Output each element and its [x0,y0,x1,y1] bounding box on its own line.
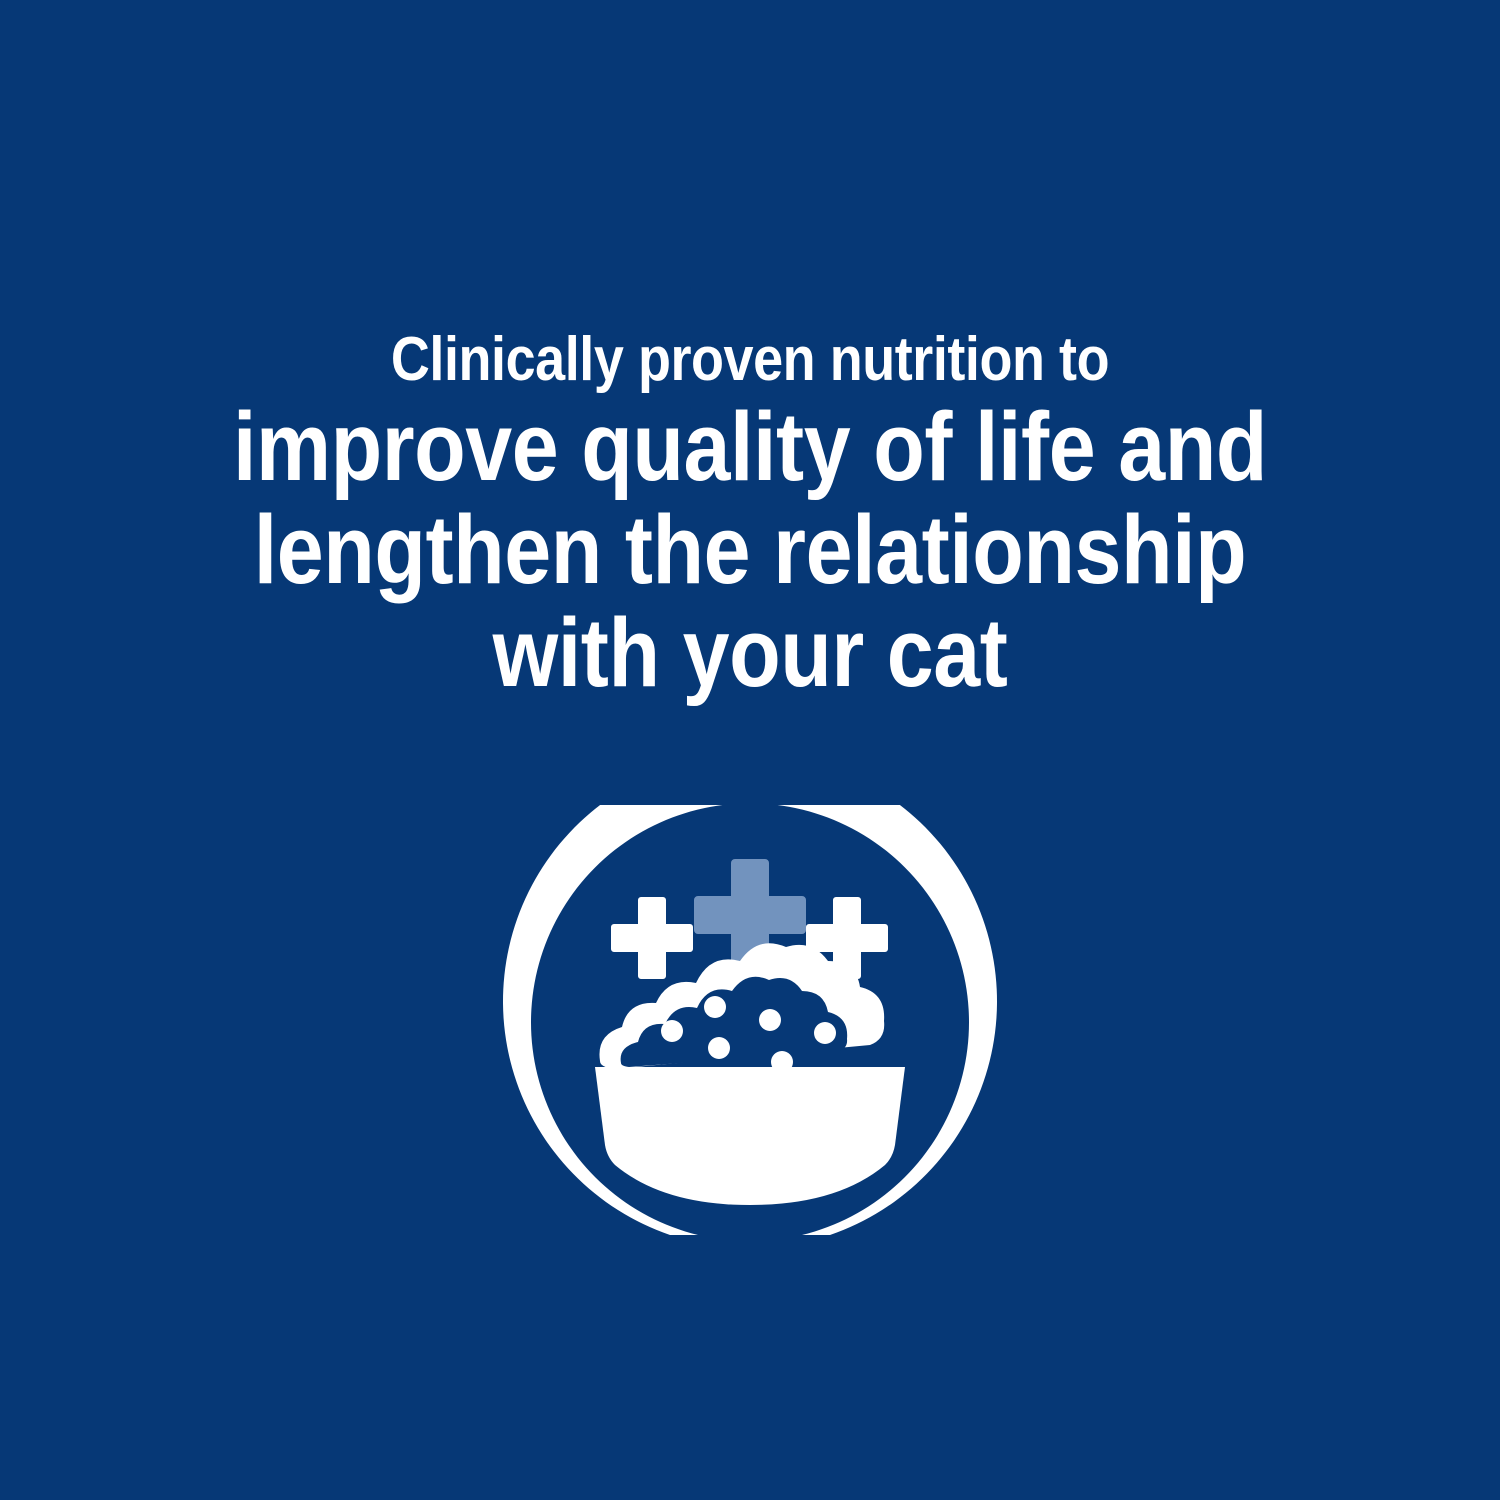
food-bowl-body-icon [595,1067,905,1205]
food-bowl-icon-svg [495,805,1005,1245]
headline-line-4: with your cat [98,601,1403,704]
headline-line-3: lengthen the relationship [98,498,1403,601]
headline-block: Clinically proven nutrition to improve q… [0,325,1500,704]
headline-line-2: improve quality of life and [98,395,1403,498]
headline-eyebrow: Clinically proven nutrition to [98,325,1403,395]
promo-card: Clinically proven nutrition to improve q… [0,0,1500,1500]
sparkle-left-icon [614,900,690,976]
food-bowl-in-circle-icon [495,805,1005,1245]
